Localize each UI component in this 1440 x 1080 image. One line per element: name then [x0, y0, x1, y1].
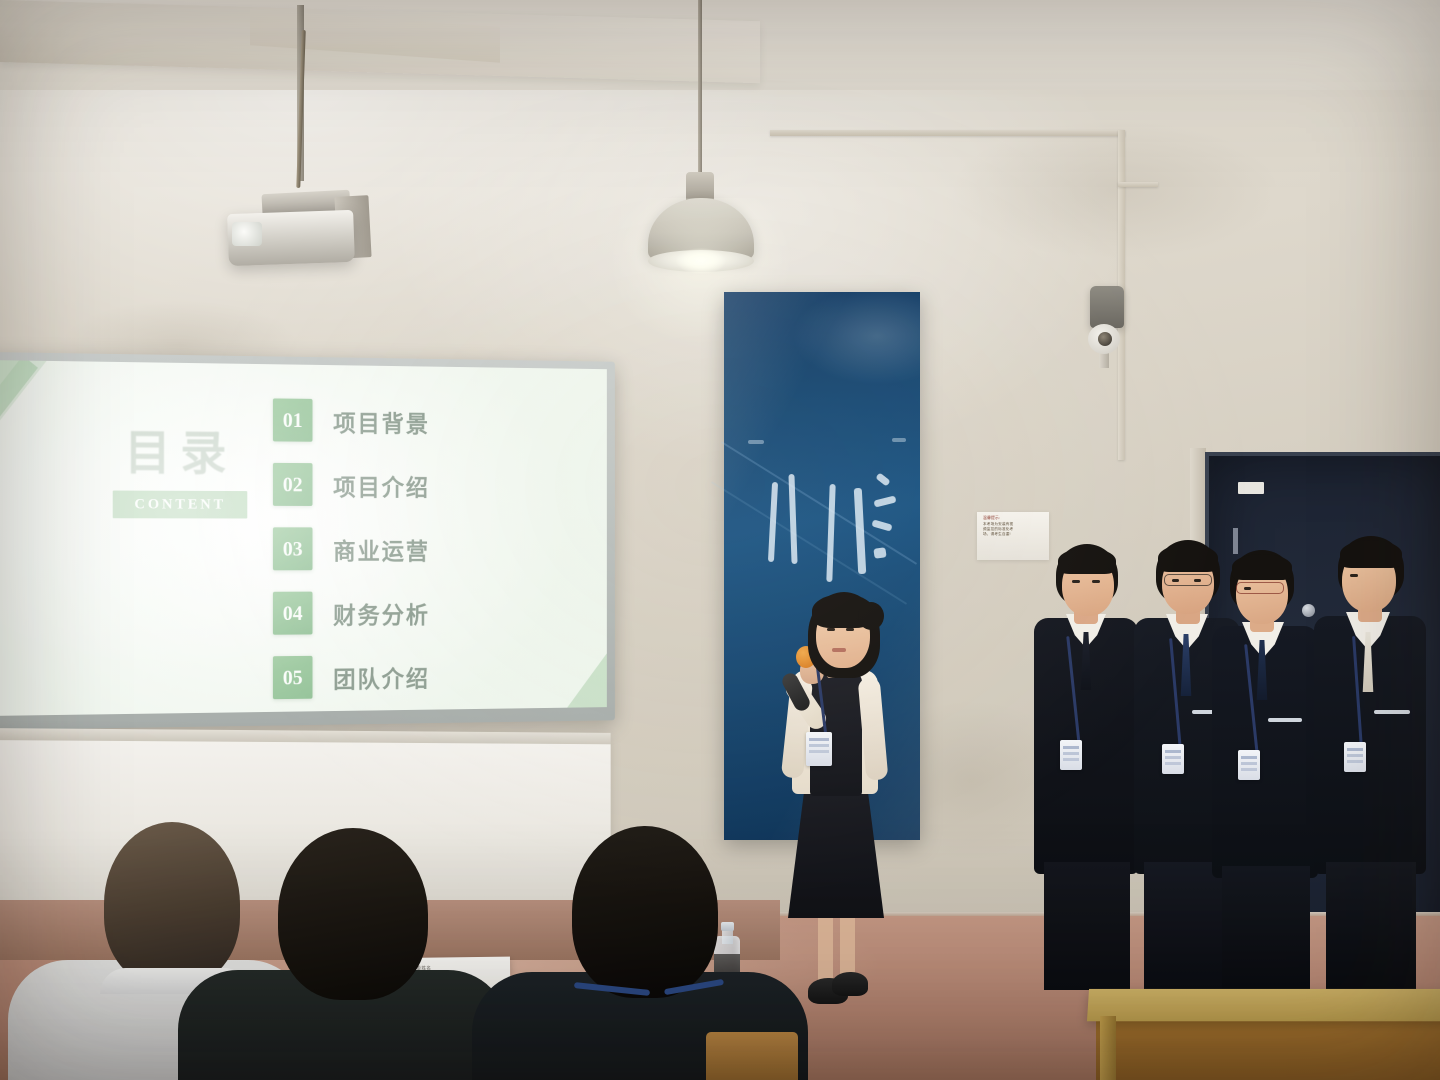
slide-heading-cn: 目录 [79, 413, 281, 483]
hair-fringe [1058, 548, 1116, 574]
team-member-3 [1208, 548, 1320, 990]
security-camera-body [1090, 286, 1124, 328]
id-badge [1060, 740, 1082, 770]
toc-item-number: 05 [273, 656, 313, 699]
toc-item: 04 财务分析 [273, 581, 430, 646]
presenter-skirt [788, 782, 884, 918]
presenter [770, 586, 930, 1046]
toc-item-number: 03 [273, 527, 313, 570]
slide-heading-en: CONTENT [134, 497, 225, 513]
slide-table-of-contents: 01 项目背景 02 项目介绍 03 商业运营 04 财务分析 [273, 388, 430, 710]
chair-back [706, 1032, 798, 1080]
slide-decoration-stripe [526, 516, 607, 716]
toc-item: 02 项目介绍 [273, 452, 430, 517]
presenter-shoe [832, 972, 868, 996]
team-member-4 [1310, 534, 1428, 990]
wall-conduit-horizontal [770, 130, 1125, 136]
wall-smudge [950, 120, 1280, 260]
trousers [1044, 862, 1130, 990]
toc-item-label: 团队介绍 [333, 659, 430, 694]
notice-line-3: 场，请考生自重! [983, 532, 1046, 537]
eye [1194, 579, 1201, 582]
wall-conduit-stub [1118, 182, 1158, 187]
trousers [1326, 862, 1416, 990]
eye [1072, 580, 1080, 583]
hair-fringe [1232, 554, 1292, 580]
presenter-eye [827, 628, 835, 631]
slide-decoration-stripe [0, 360, 63, 575]
presenter-badge [806, 732, 832, 766]
projection-screen-surface: 目录 CONTENT 01 项目背景 02 项目介绍 03 [0, 360, 607, 716]
toc-item-label: 商业运营 [333, 532, 430, 566]
toc-item: 01 项目背景 [273, 388, 430, 454]
eye [1350, 574, 1358, 577]
toc-item-label: 项目介绍 [333, 468, 430, 502]
toc-item-label: 财务分析 [333, 595, 430, 629]
trousers [1222, 866, 1310, 990]
hair-fringe [1340, 540, 1402, 568]
toc-item-number: 04 [273, 592, 313, 635]
eye [1172, 579, 1179, 582]
id-badge [1162, 744, 1184, 774]
id-badge [1344, 742, 1366, 772]
team-member-1 [1030, 540, 1140, 990]
right-desk-leg [1100, 1016, 1116, 1080]
projector-lens [232, 222, 262, 246]
judge-head-back [572, 826, 718, 998]
slide-heading-band: CONTENT [113, 491, 247, 519]
toc-item: 03 商业运营 [273, 517, 430, 581]
judge-head-back [104, 822, 240, 986]
lamp-rod [698, 0, 702, 178]
presenter-leg [818, 908, 833, 986]
pocket-square-line [1374, 710, 1410, 714]
door-label-plate [1238, 482, 1264, 494]
presenter-hair-bun [858, 602, 884, 630]
security-camera-lens-icon [1098, 332, 1112, 346]
pocket-square-line [1268, 718, 1302, 722]
projection-screen: 目录 CONTENT 01 项目背景 02 项目介绍 03 [0, 352, 615, 730]
toc-item-label: 项目背景 [333, 404, 430, 439]
toc-item-number: 02 [273, 463, 313, 506]
slide-content: 目录 CONTENT 01 项目背景 02 项目介绍 03 [0, 360, 607, 716]
eye [1092, 580, 1100, 583]
pendant-lamp-bulb [676, 248, 726, 274]
right-desk-front [1096, 1018, 1440, 1080]
judge-head-back [278, 828, 428, 1000]
presenter-eye [846, 628, 854, 631]
judge-2 [222, 828, 490, 1080]
classroom-presentation-photo: 目录 CONTENT 01 项目背景 02 项目介绍 03 [0, 0, 1440, 1080]
right-desk-top [1087, 989, 1440, 1021]
toc-item: 05 团队介绍 [273, 644, 430, 710]
eye [1244, 587, 1251, 590]
toc-item-number: 01 [273, 398, 313, 441]
slide-heading: 目录 CONTENT [79, 413, 281, 519]
id-badge [1238, 750, 1260, 780]
presenter-mouth [832, 648, 846, 652]
